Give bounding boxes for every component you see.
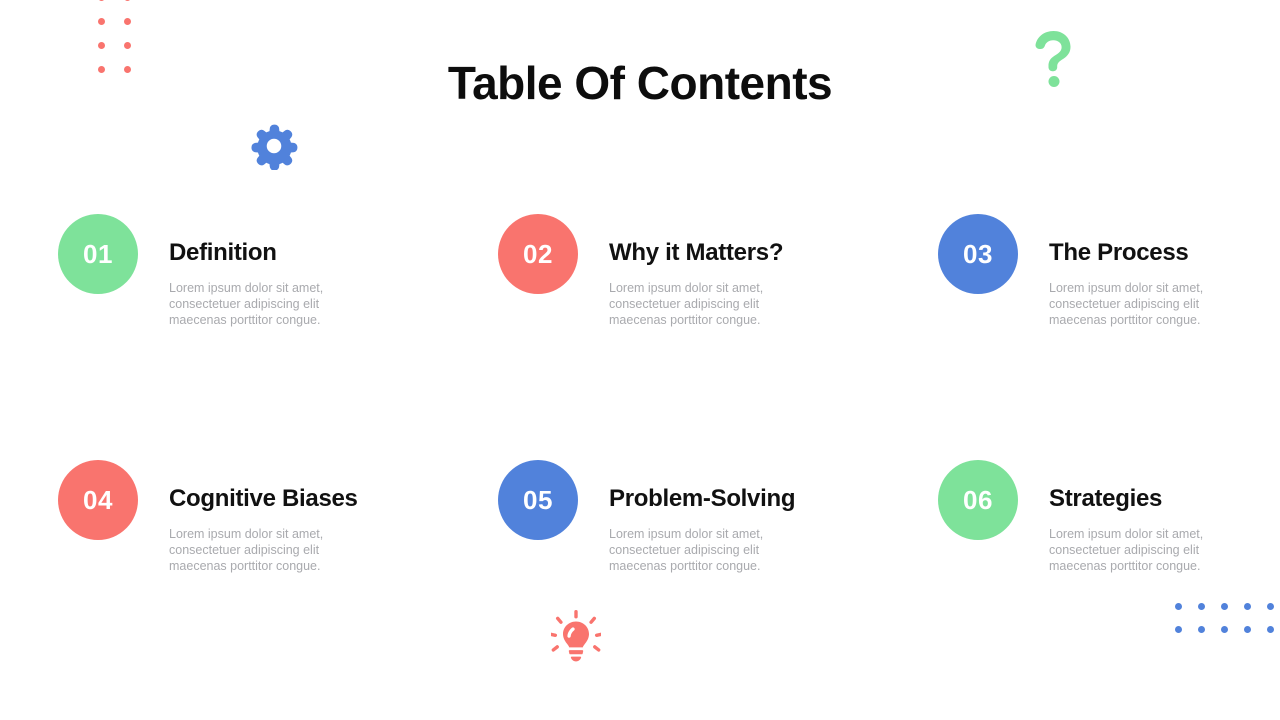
toc-item-number-badge: 04 [58,460,138,540]
toc-item-description: Lorem ipsum dolor sit amet, consectetuer… [169,526,374,574]
toc-item-description: Lorem ipsum dolor sit amet, consectetuer… [169,280,374,328]
toc-item-text: Why it Matters? Lorem ipsum dolor sit am… [609,214,814,328]
toc-item-title: Why it Matters? [609,240,814,265]
toc-item-title: Cognitive Biases [169,486,374,511]
dot [124,18,131,25]
toc-item-number-badge: 01 [58,214,138,294]
toc-item-03[interactable]: 03 The Process Lorem ipsum dolor sit ame… [938,214,1233,328]
toc-item-title: Definition [169,240,374,265]
toc-item-description: Lorem ipsum dolor sit amet, consectetuer… [1049,280,1233,328]
lightbulb-icon [551,610,601,662]
toc-item-number-badge: 06 [938,460,1018,540]
dot [1267,626,1274,633]
dot [1221,626,1228,633]
toc-item-description: Lorem ipsum dolor sit amet, consectetuer… [609,526,814,574]
dot [124,0,131,1]
dot [98,18,105,25]
toc-item-title: Problem-Solving [609,486,814,511]
dot [98,0,105,1]
toc-item-text: Strategies Lorem ipsum dolor sit amet, c… [1049,460,1233,574]
toc-item-04[interactable]: 04 Cognitive Biases Lorem ipsum dolor si… [58,460,498,574]
toc-item-02[interactable]: 02 Why it Matters? Lorem ipsum dolor sit… [498,214,938,328]
dot [1221,603,1228,610]
gear-icon [250,122,298,170]
toc-item-text: The Process Lorem ipsum dolor sit amet, … [1049,214,1233,328]
toc-item-title: The Process [1049,240,1233,265]
dot [1175,603,1182,610]
toc-item-text: Definition Lorem ipsum dolor sit amet, c… [169,214,374,328]
toc-items: 01 Definition Lorem ipsum dolor sit amet… [58,214,1233,574]
toc-item-05[interactable]: 05 Problem-Solving Lorem ipsum dolor sit… [498,460,938,574]
dot [1244,626,1251,633]
dot [1198,626,1205,633]
dot [1267,603,1274,610]
toc-item-number-badge: 05 [498,460,578,540]
toc-item-description: Lorem ipsum dolor sit amet, consectetuer… [609,280,814,328]
page-title: Table Of Contents [0,58,1280,109]
toc-item-number-badge: 02 [498,214,578,294]
dot-grid-icon [1175,603,1280,649]
toc-item-number-badge: 03 [938,214,1018,294]
toc-item-description: Lorem ipsum dolor sit amet, consectetuer… [1049,526,1233,574]
toc-item-title: Strategies [1049,486,1233,511]
toc-item-text: Problem-Solving Lorem ipsum dolor sit am… [609,460,814,574]
dot [124,42,131,49]
dot [98,42,105,49]
slide-canvas: Table Of Contents 01 Definition Lorem ip… [0,0,1280,720]
dot [1244,603,1251,610]
toc-item-06[interactable]: 06 Strategies Lorem ipsum dolor sit amet… [938,460,1233,574]
toc-item-01[interactable]: 01 Definition Lorem ipsum dolor sit amet… [58,214,498,328]
dot [1198,603,1205,610]
toc-item-text: Cognitive Biases Lorem ipsum dolor sit a… [169,460,374,574]
dot [1175,626,1182,633]
toc-row-bottom: 04 Cognitive Biases Lorem ipsum dolor si… [58,460,1233,574]
toc-row-top: 01 Definition Lorem ipsum dolor sit amet… [58,214,1233,328]
